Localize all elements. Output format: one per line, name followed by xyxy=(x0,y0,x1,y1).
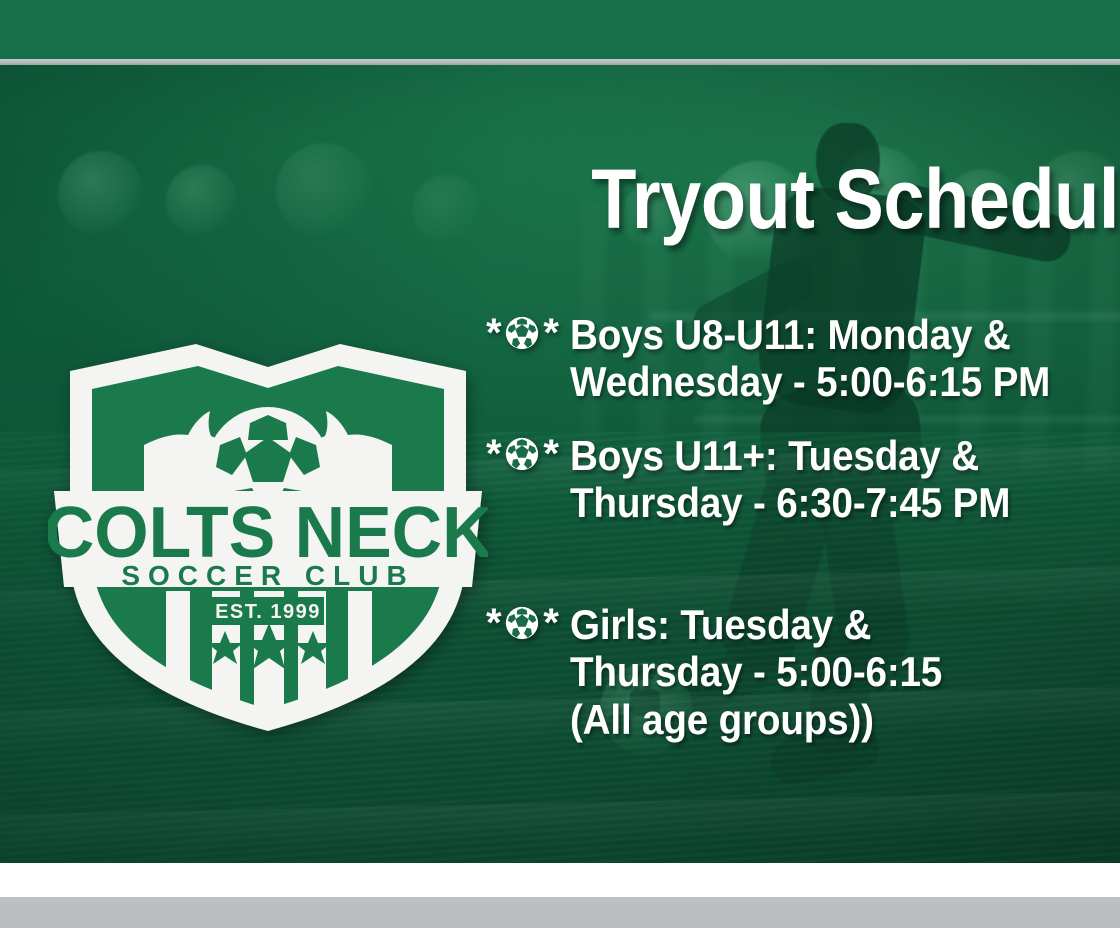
soccer-ball-marker: * * xyxy=(486,601,570,643)
schedule-item: * * xyxy=(486,311,1086,406)
asterisk-right: * xyxy=(543,603,558,643)
logo-established-text: EST. 1999 xyxy=(215,601,321,623)
schedule-item-continuation: Wednesday - 5:00-6:15 PM xyxy=(486,358,1086,405)
schedule-item-text: Thursday - 6:30-7:45 PM xyxy=(570,479,1010,526)
logo-club-subtitle: SOCCER CLUB xyxy=(121,560,414,591)
schedule-item-text: Thursday - 5:00-6:15 xyxy=(570,648,942,695)
asterisk-left: * xyxy=(486,603,501,643)
schedule-item-continuation: (All age groups)) xyxy=(486,696,1086,743)
schedule-item: * * xyxy=(486,601,1086,743)
bottom-white-band xyxy=(0,863,1120,897)
schedule-item-first-line: * * xyxy=(486,311,1086,358)
schedule-item-text: Girls: Tuesday & xyxy=(570,601,871,648)
schedule-item-continuation: Thursday - 5:00-6:15 xyxy=(486,648,1086,695)
soccer-ball-marker: * * xyxy=(486,432,570,474)
asterisk-right: * xyxy=(543,313,558,353)
asterisk-right: * xyxy=(543,434,558,474)
schedule-item-first-line: * * xyxy=(486,601,1086,648)
soccer-ball-icon xyxy=(503,314,541,352)
schedule-item-first-line: * * xyxy=(486,432,1086,479)
soccer-ball-icon xyxy=(503,435,541,473)
asterisk-left: * xyxy=(486,434,501,474)
schedule-list: * * xyxy=(486,311,1086,765)
soccer-ball-marker: * * xyxy=(486,311,570,353)
top-green-band xyxy=(0,0,1120,59)
club-logo: COLTS NECK SOCCER CLUB EST. 1999 xyxy=(48,341,488,731)
schedule-item: * * xyxy=(486,432,1086,527)
page-title: Tryout Schedule xyxy=(591,161,1084,238)
schedule-item-text: Boys U11+: Tuesday & xyxy=(570,432,979,479)
poster-canvas: COLTS NECK SOCCER CLUB EST. 1999 Tryout … xyxy=(0,0,1120,928)
schedule-item-text: Boys U8-U11: Monday & xyxy=(570,311,1011,358)
bottom-gray-band xyxy=(0,897,1120,928)
schedule-item-text: (All age groups)) xyxy=(570,696,874,743)
soccer-ball-icon xyxy=(503,604,541,642)
schedule-item-text: Wednesday - 5:00-6:15 PM xyxy=(570,358,1050,405)
poster-graphic: COLTS NECK SOCCER CLUB EST. 1999 Tryout … xyxy=(0,65,1120,863)
schedule-item-continuation: Thursday - 6:30-7:45 PM xyxy=(486,479,1086,526)
asterisk-left: * xyxy=(486,313,501,353)
